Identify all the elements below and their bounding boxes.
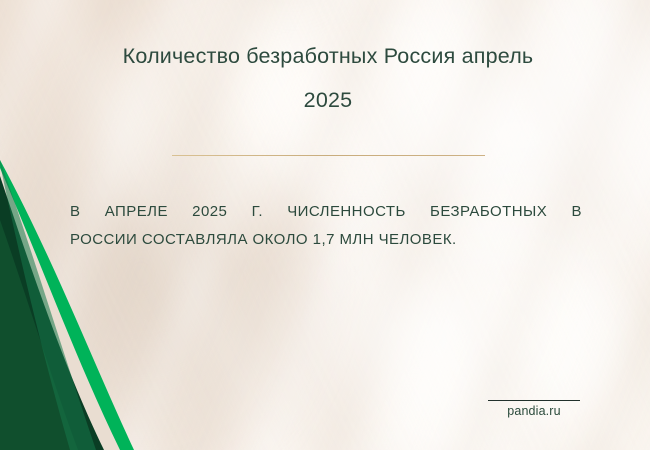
- source-label: pandia.ru: [488, 404, 580, 418]
- slide-body-text: В АПРЕЛЕ 2025 Г. ЧИСЛЕННОСТЬ БЕЗРАБОТНЫХ…: [70, 198, 582, 254]
- slide-title-line-2: 2025: [78, 78, 578, 122]
- body-word: В: [70, 198, 80, 226]
- body-word: АПРЕЛЕ: [105, 198, 168, 226]
- body-line-2: РОССИИ СОСТАВЛЯЛА ОКОЛО 1,7 МЛН ЧЕЛОВЕК.: [70, 226, 582, 254]
- body-word: БЕЗРАБОТНЫХ: [430, 198, 547, 226]
- title-divider-line: [172, 155, 485, 156]
- source-rule-line: [488, 400, 580, 401]
- body-word: В: [571, 198, 581, 226]
- slide-title-line-1: Количество безработных Россия апрель: [78, 34, 578, 78]
- presentation-slide: Количество безработных Россия апрель 202…: [0, 0, 650, 450]
- body-line-1: В АПРЕЛЕ 2025 Г. ЧИСЛЕННОСТЬ БЕЗРАБОТНЫХ…: [70, 198, 582, 226]
- body-word: ЧИСЛЕННОСТЬ: [287, 198, 406, 226]
- source-attribution: pandia.ru: [488, 400, 580, 418]
- slide-title: Количество безработных Россия апрель 202…: [78, 34, 578, 122]
- body-word: 2025: [192, 198, 227, 226]
- body-word: Г.: [252, 198, 263, 226]
